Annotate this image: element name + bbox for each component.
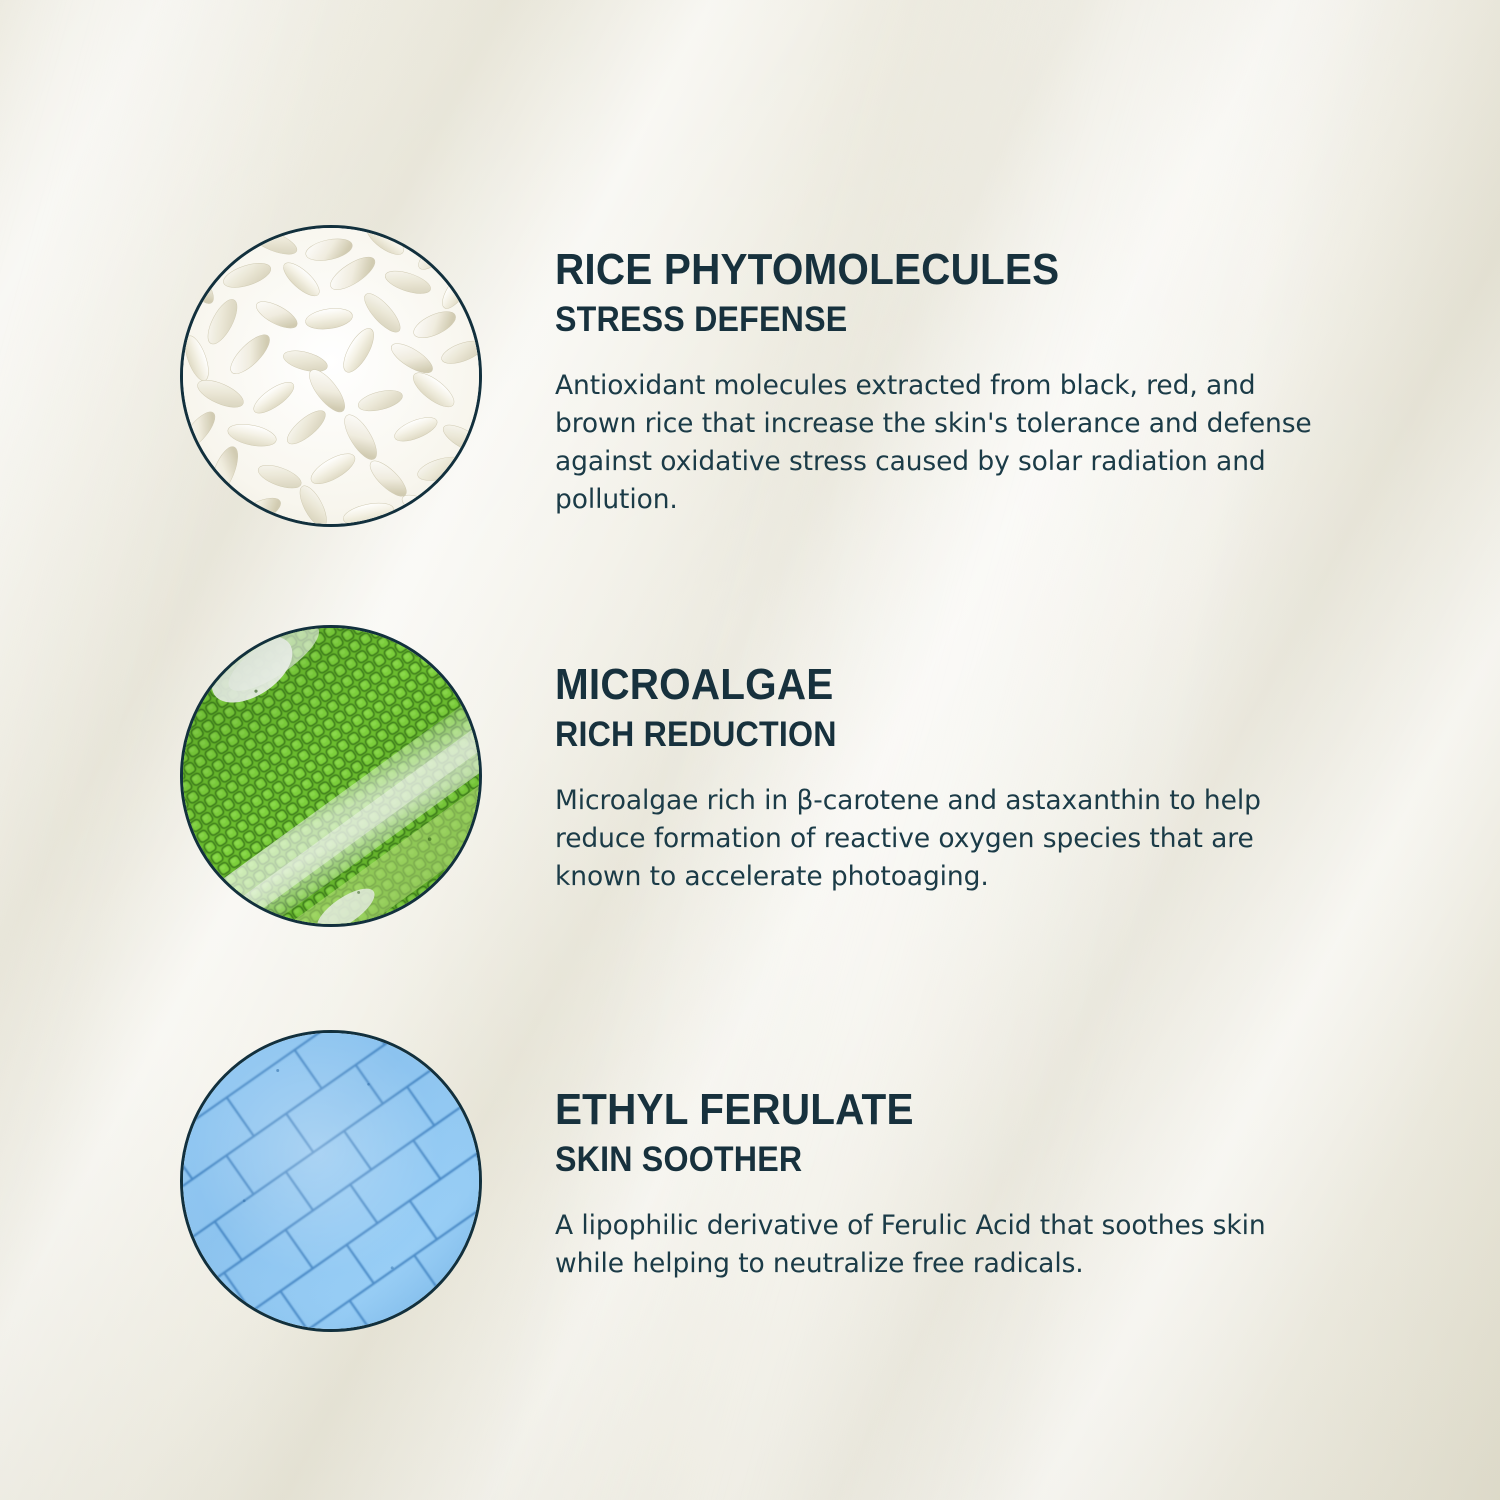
microalgae-copy-block: MICROALGAE RICH REDUCTION Microalgae ric… [555,660,1500,896]
ingredient-subtitle: STRESS DEFENSE [555,299,1286,341]
ingredient-benefits-panel: RICE PHYTOMOLECULES STRESS DEFENSE Antio… [0,0,1500,1500]
ingredient-row-ethyl-ferulate: ETHYL FERULATE SKIN SOOTHER A lipophilic… [0,1030,1500,1332]
ethyl-ferulate-copy-block: ETHYL FERULATE SKIN SOOTHER A lipophilic… [555,1085,1500,1283]
ingredient-description: Microalgae rich in β-carotene and astaxa… [555,782,1315,896]
rice-grains-photo-wrap [180,225,482,527]
ingredient-subtitle: SKIN SOOTHER [555,1139,1286,1181]
ingredient-description: A lipophilic derivative of Ferulic Acid … [555,1207,1315,1283]
ingredient-row-rice: RICE PHYTOMOLECULES STRESS DEFENSE Antio… [0,225,1500,527]
ingredient-subtitle: RICH REDUCTION [555,714,1286,756]
rice-copy-block: RICE PHYTOMOLECULES STRESS DEFENSE Antio… [555,245,1500,519]
microalgae-photo-wrap [180,625,482,927]
ingredient-title: ETHYL FERULATE [555,1085,1286,1135]
ingredient-title: RICE PHYTOMOLECULES [555,245,1286,295]
ingredient-row-microalgae: MICROALGAE RICH REDUCTION Microalgae ric… [0,625,1500,927]
ingredient-title: MICROALGAE [555,660,1286,710]
ingredient-list: RICE PHYTOMOLECULES STRESS DEFENSE Antio… [0,0,1500,1500]
plant-cells-photo-wrap [180,1030,482,1332]
microalgae-photo [180,625,482,927]
plant-cells-photo [180,1030,482,1332]
ingredient-description: Antioxidant molecules extracted from bla… [555,367,1315,519]
rice-grains-photo [180,225,482,527]
